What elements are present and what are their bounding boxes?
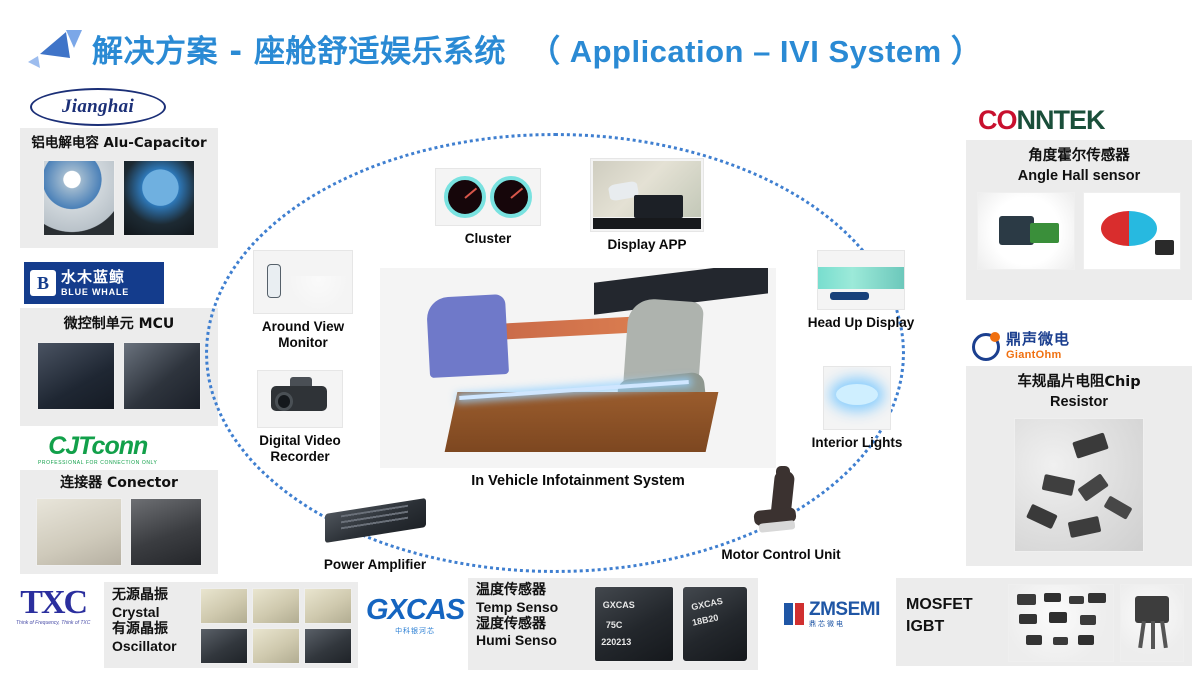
magnet-icon <box>1101 211 1157 246</box>
gxcas-chip-label-0: GXCAS <box>603 600 635 610</box>
panel-mosfet-igbt: MOSFET IGBT <box>896 578 1192 666</box>
oscillator-smd-3-thumb <box>304 628 352 664</box>
gxcas-sub: 中科银河芯 <box>395 628 435 635</box>
node-head-up-display[interactable]: Head Up Display <box>790 250 932 331</box>
node-label-cluster: Cluster <box>432 231 544 247</box>
panel-crystal-oscillator: 无源晶振 Crystal 有源晶振 Oscillator <box>104 582 358 668</box>
panel-title-hall-cn: 角度霍尔传感器 <box>966 148 1192 165</box>
gxcas-chip-label-2: 220213 <box>601 637 631 647</box>
jianghai-logo: Jianghai <box>30 88 166 126</box>
txc-text-block: 无源晶振 Crystal 有源晶振 Oscillator <box>112 587 198 655</box>
txc-thumb-grid <box>200 588 352 664</box>
zmsemi-wordmark: ZMSEMI <box>809 600 880 619</box>
page-title: 解决方案 - 座舱舒适娱乐系统 （ Application – IVI Syst… <box>92 26 982 71</box>
node-label-interior-lights: Interior Lights <box>795 435 919 451</box>
zmsemi-sub: 鼎芯微电 <box>809 621 880 628</box>
node-label-display-app: Display APP <box>586 237 708 253</box>
dial-right-icon <box>490 176 532 218</box>
zmsemi-logo: ZMSEMI 鼎芯微电 <box>784 600 880 628</box>
gxcas-chip2-label-0: GXCAS <box>690 596 723 612</box>
txc-line-0: 无源晶振 <box>112 587 198 604</box>
thumb-row-mcu <box>20 342 218 410</box>
zmsemi-line-0: MOSFET <box>906 594 973 616</box>
conntek-logo: CO NNTEK <box>978 105 1105 136</box>
slide-canvas: 解决方案 - 座舱舒适娱乐系统 （ Application – IVI Syst… <box>0 0 1200 674</box>
gxcas-chip-label-1: 75C <box>606 620 623 630</box>
gxcas-line-0: 温度传感器 <box>476 582 586 599</box>
conntek-wordmark-part1: CO <box>978 105 1017 136</box>
triangles-logo-icon <box>26 28 88 74</box>
hall-sensor-module-thumb <box>977 192 1075 270</box>
txc-line-2: 有源晶振 <box>112 621 198 638</box>
gxcas-chip2-label-1: 18B20 <box>691 612 719 627</box>
panel-title-resistor-cn: 车规晶片电阻Chip <box>966 374 1192 391</box>
interior-light-image <box>823 366 891 430</box>
connector-white-housing-thumb <box>36 498 122 566</box>
panel-title-mcu: 微控制单元 MCU <box>20 316 218 333</box>
gxcas-line-1: Temp Senso <box>476 599 586 616</box>
zmsemi-text-block: MOSFET IGBT <box>906 594 973 637</box>
center-display-image <box>590 158 704 232</box>
slide-header: 解决方案 - 座舱舒适娱乐系统 （ Application – IVI Syst… <box>0 10 1200 72</box>
mosfet-package-group-thumb <box>1008 584 1114 662</box>
blue-whale-brand-en: BLUE WHALE <box>61 288 129 297</box>
panel-title-resistor-en: Resistor <box>966 394 1192 411</box>
gxcas-text-block: 温度传感器 Temp Senso 湿度传感器 Humi Senso <box>476 582 586 649</box>
gxcas-line-2: 湿度传感器 <box>476 616 586 633</box>
node-cluster[interactable]: Cluster <box>432 168 544 247</box>
panel-title-hall-en: Angle Hall sensor <box>966 168 1192 185</box>
page-title-cn: 解决方案 - 座舱舒适娱乐系统 <box>92 34 506 70</box>
txc-tagline: Think of Frequency, Think of TXC <box>16 621 90 626</box>
magnet-pole-diagram-thumb <box>1083 192 1181 270</box>
blue-whale-brand-cn: 水木蓝鲸 <box>61 270 129 285</box>
node-digital-video-recorder[interactable]: Digital Video Recorder <box>240 370 360 464</box>
connector-black-housing-thumb <box>130 498 202 566</box>
node-label-motor-control-unit: Motor Control Unit <box>712 547 850 563</box>
jianghai-wordmark: Jianghai <box>30 88 166 126</box>
page-title-en: （ Application – IVI System ） <box>529 34 982 69</box>
cjtconn-tagline: PROFESSIONAL FOR CONNECTION ONLY <box>38 461 158 466</box>
dial-left-icon <box>444 176 486 218</box>
node-label-power-amplifier: Power Amplifier <box>306 557 444 573</box>
soic-sensor-chip-thumb: GXCAS 75C 220213 <box>594 586 674 662</box>
cjtconn-wordmark: CJTconn <box>48 434 147 459</box>
panel-alu-capacitor: 铝电解电容 Alu-Capacitor <box>20 128 218 248</box>
panel-chip-resistor: 车规晶片电阻Chip Resistor <box>966 366 1192 566</box>
conntek-wordmark-part2: NNTEK <box>1017 105 1105 136</box>
crystal-smd-1-thumb <box>200 588 248 624</box>
node-label-digital-video-recorder: Digital Video Recorder <box>240 433 360 464</box>
to92-sensor-thumb: GXCAS 18B20 <box>682 586 748 662</box>
txc-wordmark: TXC <box>20 586 86 620</box>
blue-whale-mark-icon: B <box>30 270 56 296</box>
alu-capacitor-smd-thumb <box>123 160 195 236</box>
panel-mcu: 微控制单元 MCU <box>20 308 218 426</box>
to247-package-thumb <box>1120 584 1184 662</box>
gxcas-line-3: Humi Senso <box>476 632 586 649</box>
node-label-around-view-monitor: Around View Monitor <box>245 319 361 350</box>
mcu-qfp-package-thumb <box>37 342 115 410</box>
giantohm-ring-icon <box>972 333 1000 361</box>
crystal-smd-3-thumb <box>304 588 352 624</box>
oscillator-smd-1-thumb <box>200 628 248 664</box>
panel-angle-hall-sensor: 角度霍尔传感器 Angle Hall sensor <box>966 140 1192 300</box>
node-label-in-vehicle-infotainment: In Vehicle Infotainment System <box>378 473 778 490</box>
giantohm-brand-en: GiantOhm <box>1006 350 1070 361</box>
crystal-smd-2-thumb <box>252 588 300 624</box>
thumb-row-connector <box>20 498 218 566</box>
blue-whale-logo: B 水木蓝鲸 BLUE WHALE <box>24 262 164 304</box>
panel-title-connector: 连接器 Conector <box>20 475 218 492</box>
txc-logo: TXC Think of Frequency, Think of TXC <box>16 586 90 626</box>
txc-line-1: Crystal <box>112 604 198 621</box>
giantohm-brand-cn: 鼎声微电 <box>1006 332 1070 347</box>
oscillator-smd-2-thumb <box>252 628 300 664</box>
thumb-row-resistor <box>966 418 1192 552</box>
node-label-head-up-display: Head Up Display <box>790 315 932 331</box>
zmsemi-line-1: IGBT <box>906 616 973 638</box>
panel-temp-humi-sensor: 温度传感器 Temp Senso 湿度传感器 Humi Senso GXCAS … <box>468 578 758 670</box>
car-interior-lounge-image <box>380 268 776 468</box>
zmsemi-bars-icon <box>784 603 804 625</box>
node-in-vehicle-infotainment[interactable]: In Vehicle Infotainment System <box>378 268 778 490</box>
mcu-bga-pair-thumb <box>123 342 201 410</box>
head-up-display-image <box>817 250 905 310</box>
txc-line-3: Oscillator <box>112 638 198 655</box>
node-display-app[interactable]: Display APP <box>586 158 708 253</box>
instrument-cluster-image <box>435 168 541 226</box>
panel-connector: 连接器 Conector <box>20 470 218 574</box>
power-amplifier-image <box>315 490 435 552</box>
gxcas-wordmark: GXCAS <box>366 596 464 625</box>
panel-title-alu-capacitor: 铝电解电容 Alu-Capacitor <box>20 136 218 152</box>
node-power-amplifier[interactable]: Power Amplifier <box>306 490 444 573</box>
chip-resistor-field-thumb <box>1014 418 1144 552</box>
thumb-row-hall <box>966 192 1192 270</box>
alu-capacitor-blue-can-thumb <box>43 160 115 236</box>
gxcas-logo: GXCAS 中科银河芯 <box>366 596 464 635</box>
node-around-view-monitor[interactable]: Around View Monitor <box>245 250 361 350</box>
dashcam-image <box>257 370 343 428</box>
cjtconn-logo: CJTconn PROFESSIONAL FOR CONNECTION ONLY <box>38 434 158 466</box>
giantohm-logo: 鼎声微电 GiantOhm <box>972 332 1070 361</box>
thumb-row-alu <box>20 160 218 236</box>
node-interior-lights[interactable]: Interior Lights <box>795 366 919 451</box>
around-view-monitor-image <box>253 250 353 314</box>
